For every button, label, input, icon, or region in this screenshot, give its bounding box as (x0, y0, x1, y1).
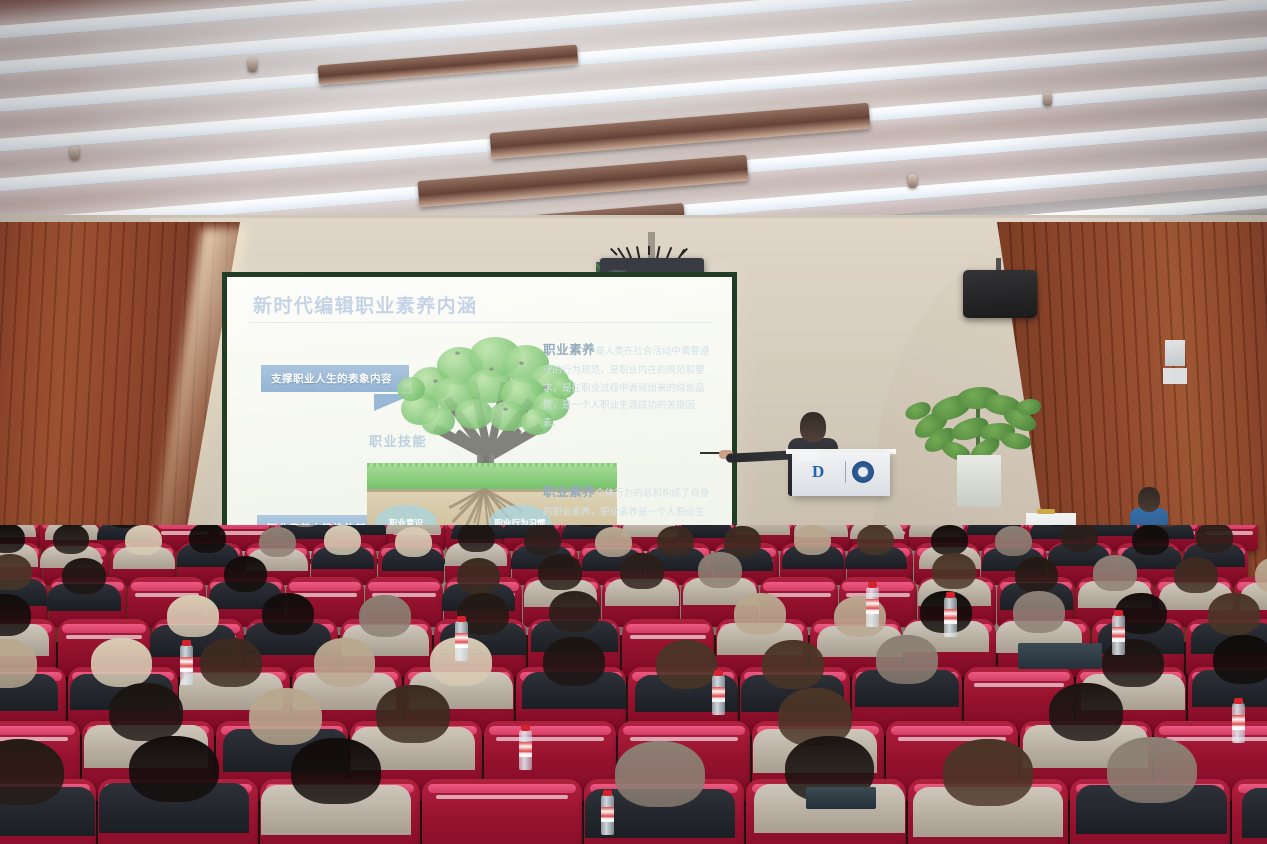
attendee-head (876, 635, 938, 684)
attendee-head (543, 637, 605, 686)
attendee-head (698, 552, 742, 588)
podium-logo-left: D (812, 462, 838, 482)
bottle-label (944, 609, 957, 624)
attendee-head (62, 558, 106, 594)
attendee-head (53, 525, 90, 554)
bottle-cap (868, 582, 877, 588)
podium-logo-right-icon (852, 461, 874, 483)
attendee-head (995, 526, 1032, 556)
bottle-label (601, 807, 614, 822)
auditorium-photo: 新时代编辑职业素养内涵 支撑职业人生的表象内容 职业素养中隐性的部分 职业技能 … (0, 0, 1267, 844)
attendee-head (291, 738, 381, 804)
attendee-head (1049, 683, 1123, 741)
attendee-head (167, 595, 219, 637)
attendee-head (656, 640, 718, 689)
presenter-name-badge (797, 450, 819, 461)
bottle-cap (457, 616, 466, 622)
bottle-label (519, 742, 532, 757)
bottle-cap (603, 790, 612, 796)
presentation-slide: 新时代编辑职业素养内涵 支撑职业人生的表象内容 职业素养中隐性的部分 职业技能 … (227, 277, 732, 559)
wall-fixture (1165, 340, 1185, 366)
ceiling-spotlight (248, 58, 257, 72)
wall-notice (1163, 368, 1187, 384)
attendee-head (262, 593, 314, 635)
attendee-head (931, 525, 968, 555)
attendee-head (615, 741, 705, 807)
attendee-head (324, 525, 361, 555)
laptop[interactable] (806, 787, 876, 809)
ceiling-spotlight (1043, 92, 1052, 106)
plant-leaf (1000, 430, 1033, 453)
attendee-head (724, 526, 761, 556)
attendee-head (224, 556, 268, 592)
attendee-head (762, 640, 824, 689)
attendee-head (1208, 593, 1260, 635)
attendee-head (857, 525, 894, 555)
attendee-head (1013, 591, 1065, 633)
attendee-head (359, 595, 411, 637)
cabinet-top-object (1037, 509, 1055, 514)
slide-paragraph-1: 职业素养是人类在社会活动中需要遵守的行为规范，是职业内在的规范和要求，是在职业过… (543, 339, 713, 432)
attendee-head (189, 525, 226, 553)
ceiling-spotlight (908, 174, 917, 188)
attendee-head (1107, 737, 1197, 803)
attendee-head (109, 683, 183, 741)
attendee-head (129, 736, 219, 802)
attendee-head (376, 685, 450, 743)
bottle-label (866, 599, 879, 614)
attendee-head (125, 525, 162, 555)
attendee-head (200, 638, 262, 687)
attendee-shoulders (1242, 788, 1267, 838)
bottle-cap (182, 640, 191, 646)
attendee-head (457, 558, 501, 594)
projector-cable (680, 248, 688, 256)
bottle-cap (1114, 610, 1123, 616)
bottle-label (1232, 715, 1245, 730)
paragraph-1-lead: 职业素养 (543, 343, 595, 357)
podium-logo-divider (845, 461, 846, 483)
projector-cable (648, 246, 650, 255)
auditorium-seat[interactable] (422, 779, 582, 844)
paragraph-1-body: 是人类在社会活动中需要遵守的行为规范，是职业内在的规范和要求，是在职业过程中表现… (543, 346, 709, 429)
bottle-label (1112, 627, 1125, 642)
bottle-cap (946, 592, 955, 598)
attendee-head (259, 527, 296, 557)
attendee-head (657, 526, 694, 556)
attendee-head (538, 554, 582, 590)
ceiling-spotlight (70, 146, 79, 160)
seated-side-attendee-head (1138, 487, 1160, 512)
attendee-head (1093, 555, 1137, 591)
attendee-head (1132, 525, 1169, 555)
attendee-head (1015, 557, 1059, 593)
attendee-head (794, 525, 831, 555)
paragraph-2-lead: 职业素养 (543, 485, 595, 499)
attendee-head (1174, 557, 1218, 593)
bottle-label (712, 687, 725, 702)
attendee-head (549, 591, 601, 633)
attendee-head (458, 525, 495, 552)
laptop[interactable] (1018, 643, 1102, 669)
attendee-head (524, 525, 561, 555)
attendee-head (595, 527, 632, 557)
presenter-head (800, 412, 826, 442)
bottle-cap (1234, 698, 1243, 704)
audience-seating (0, 525, 1267, 844)
attendee-head (943, 739, 1033, 805)
plant-leaf (1017, 399, 1041, 415)
projection-screen-frame: 新时代编辑职业素养内涵 支撑职业人生的表象内容 职业素养中隐性的部分 职业技能 … (222, 272, 737, 564)
bottle-cap (521, 725, 530, 731)
wall-loudspeaker (963, 270, 1037, 318)
attendee-head (1213, 635, 1267, 684)
bottle-label (455, 633, 468, 648)
bottle-label (180, 657, 193, 672)
plant-pot (957, 455, 1001, 507)
attendee-head (314, 638, 376, 687)
attendee-head (932, 553, 976, 589)
attendee-head (620, 553, 664, 589)
attendee-head (249, 688, 323, 746)
attendee-head (1061, 525, 1098, 552)
attendee-head (1196, 525, 1233, 553)
attendee-head (734, 593, 786, 635)
bottle-cap (714, 670, 723, 676)
attendee-head (91, 638, 153, 687)
attendee-head (395, 527, 432, 557)
